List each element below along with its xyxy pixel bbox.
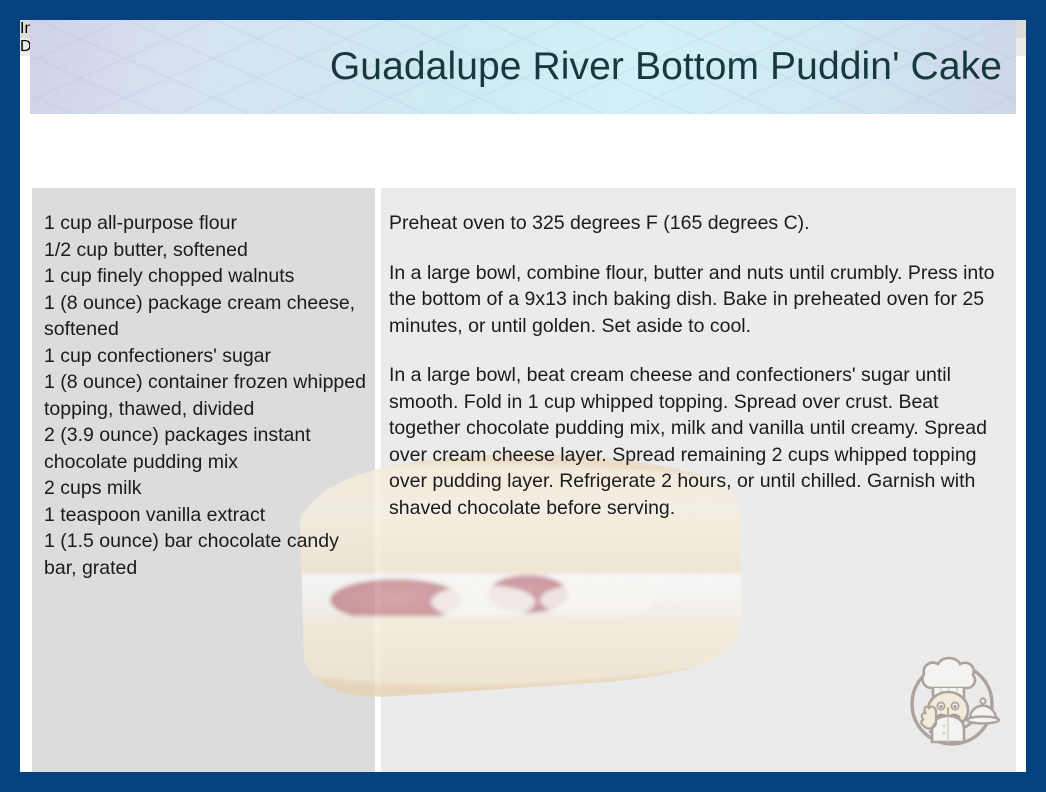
ingredient-item: 1 (8 ounce) package cream cheese, soften…	[44, 290, 367, 343]
ingredient-item: 1 teaspoon vanilla extract	[44, 502, 367, 529]
direction-paragraph: In a large bowl, beat cream cheese and c…	[389, 362, 996, 521]
page-title: Guadalupe River Bottom Puddin' Cake	[330, 45, 1002, 89]
direction-paragraph: Preheat oven to 325 degrees F (165 degre…	[389, 210, 996, 237]
ingredient-item: 2 (3.9 ounce) packages instant chocolate…	[44, 422, 367, 475]
direction-paragraph-list: Preheat oven to 325 degrees F (165 degre…	[389, 210, 996, 521]
ingredients-panel: 1 cup all-purpose flour1/2 cup butter, s…	[32, 188, 375, 772]
chef-mascot-logo	[896, 642, 1008, 754]
ingredient-item: 1/2 cup butter, softened	[44, 237, 367, 264]
ingredient-item: 1 (8 ounce) container frozen whipped top…	[44, 369, 367, 422]
ingredient-item: 1 cup finely chopped walnuts	[44, 263, 367, 290]
ingredient-list: 1 cup all-purpose flour1/2 cup butter, s…	[44, 210, 367, 581]
direction-paragraph: In a large bowl, combine flour, butter a…	[389, 260, 996, 340]
ingredient-item: 1 cup confectioners' sugar	[44, 343, 367, 370]
ingredient-item: 2 cups milk	[44, 475, 367, 502]
title-banner: Guadalupe River Bottom Puddin' Cake	[30, 20, 1016, 114]
recipe-page: Guadalupe River Bottom Puddin' Cake Ingr…	[20, 20, 1026, 772]
recipe-card: Guadalupe River Bottom Puddin' Cake Ingr…	[0, 0, 1046, 792]
ingredient-item: 1 (1.5 ounce) bar chocolate candy bar, g…	[44, 528, 367, 581]
ingredient-item: 1 cup all-purpose flour	[44, 210, 367, 237]
